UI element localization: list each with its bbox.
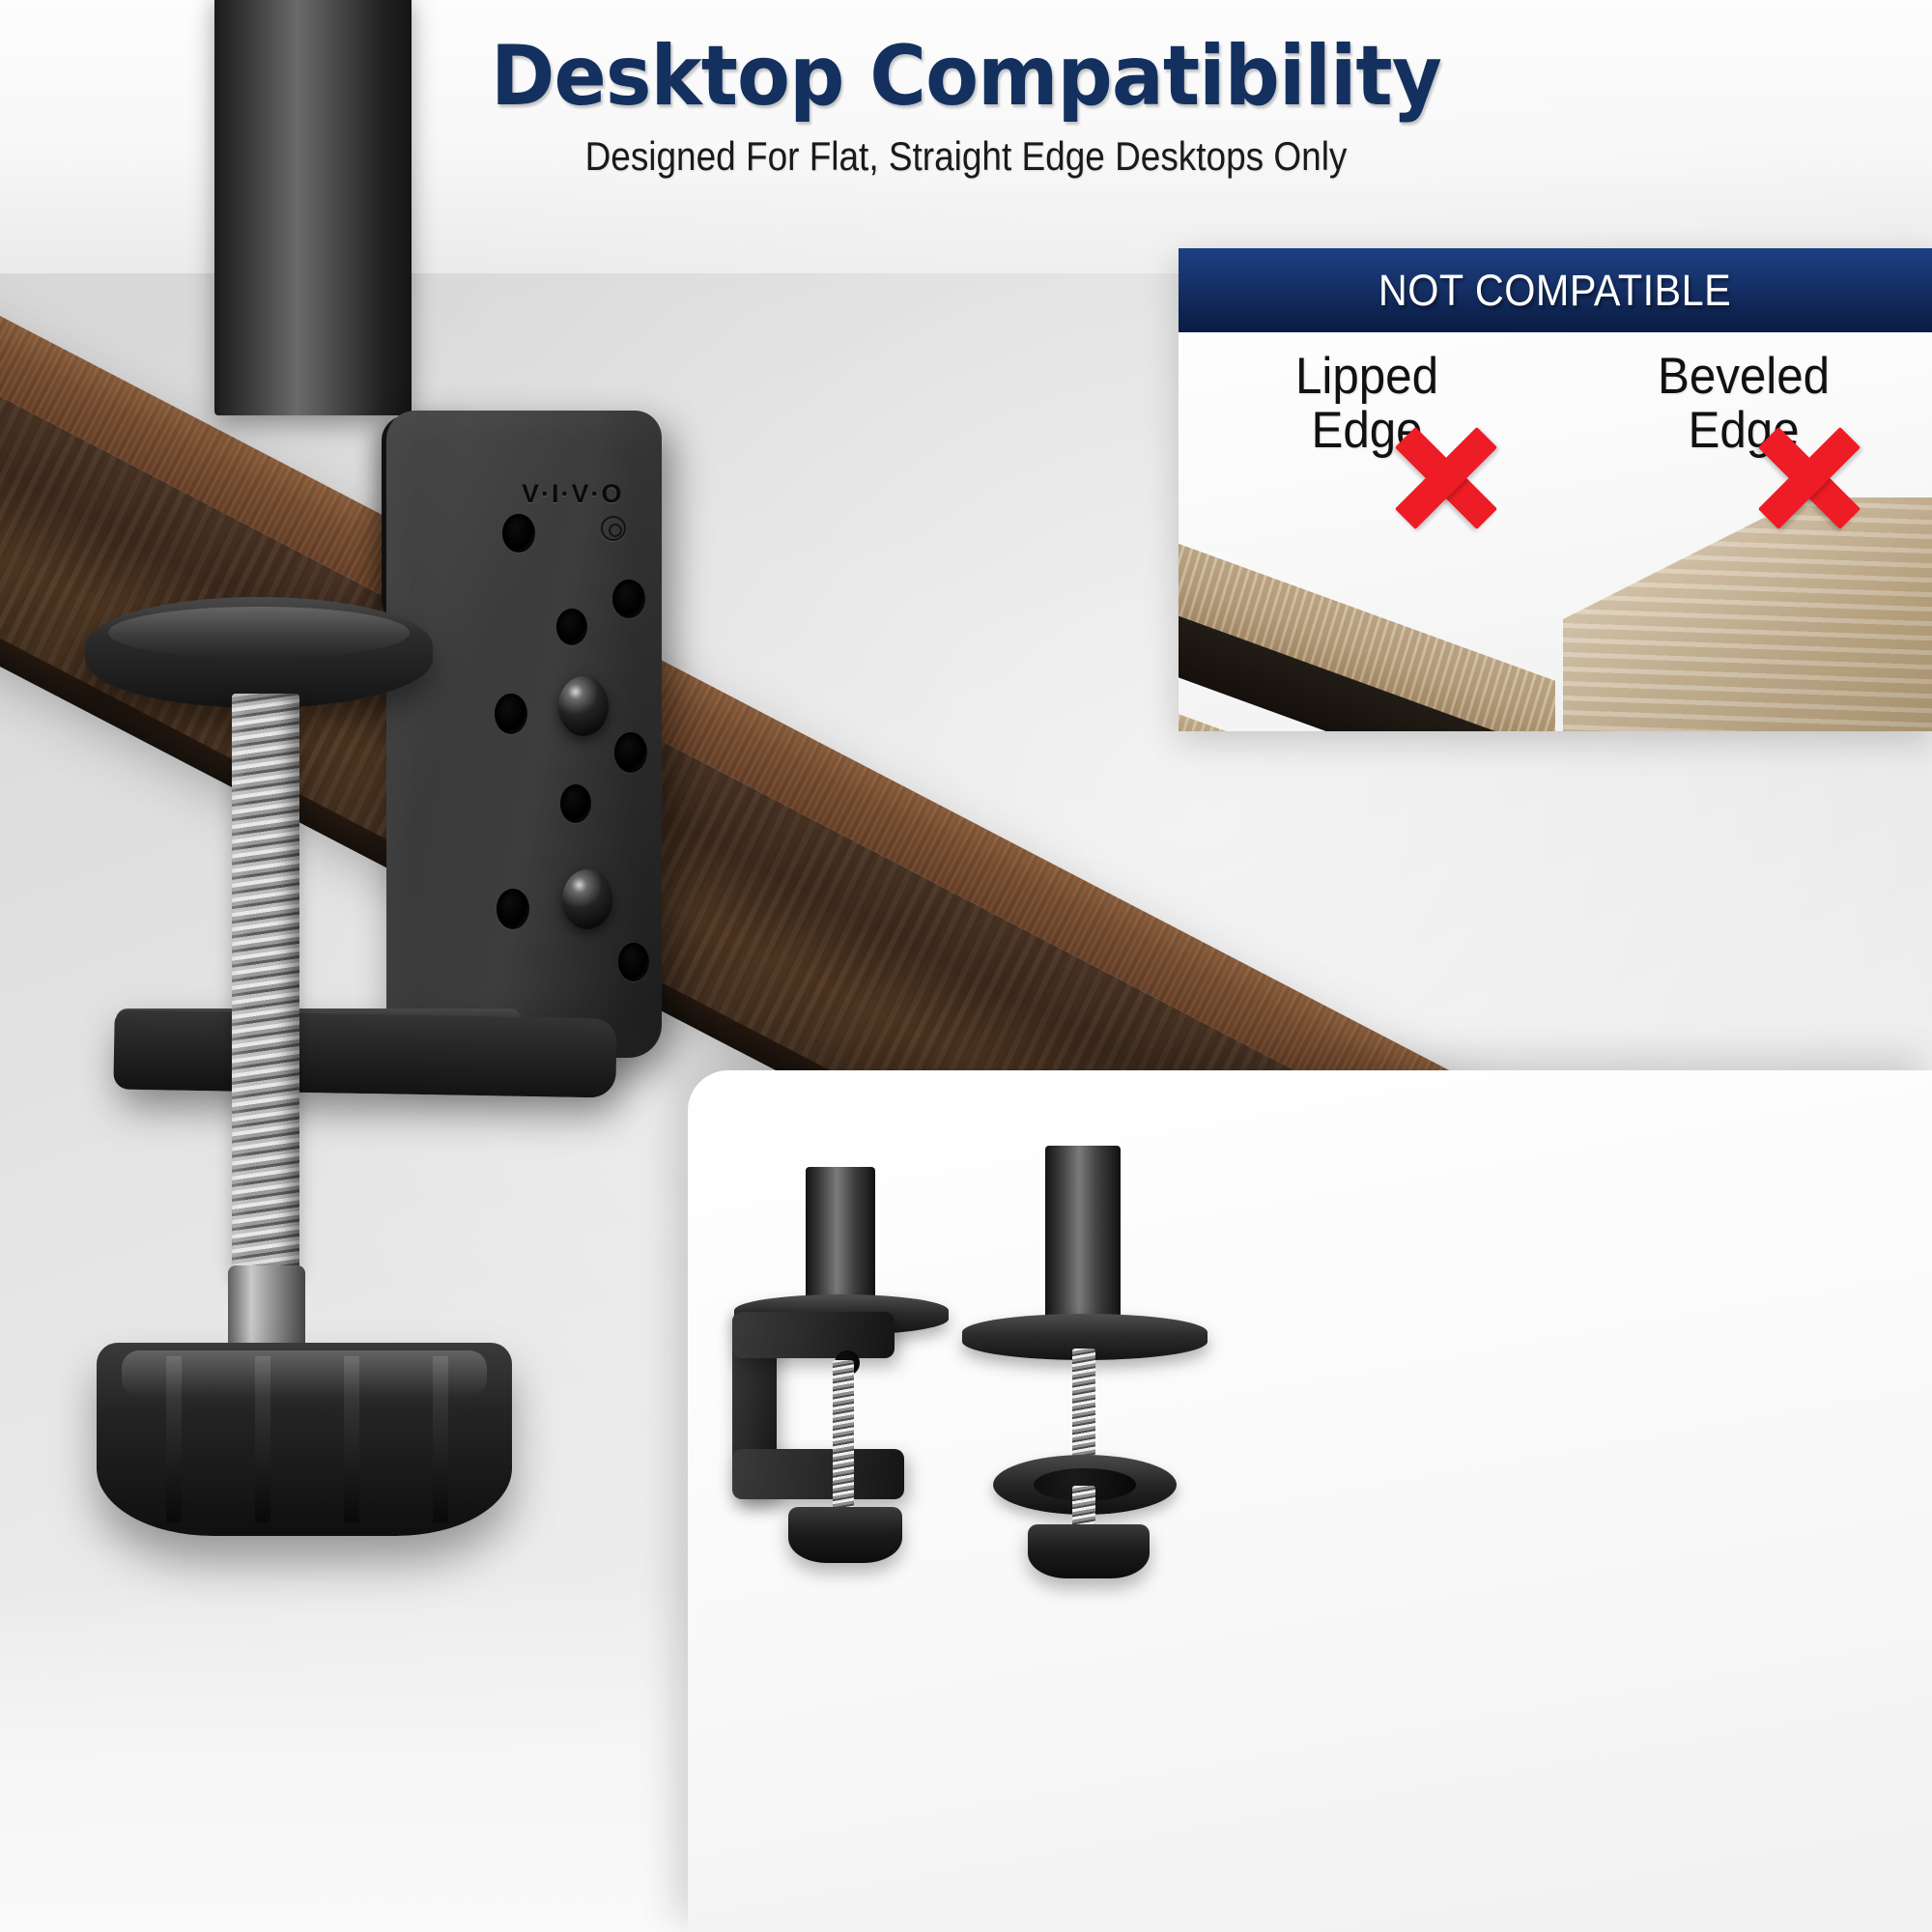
plate-hole xyxy=(560,784,591,823)
product-infographic: Desktop Compatibility Designed For Flat,… xyxy=(0,0,1932,1932)
plate-hole xyxy=(556,609,587,645)
vivo-brand-logo: V·I·V·O xyxy=(522,479,624,509)
not-compatible-panel: NOT COMPATIBLE Lipped Edge Beveled xyxy=(1179,248,1932,731)
clamp-screw-shaft xyxy=(232,694,299,1273)
clamp-pressure-pad xyxy=(85,597,433,708)
plate-hole xyxy=(618,943,649,981)
page-title: Desktop Compatibility xyxy=(68,33,1864,120)
page-subtitle: Designed For Flat, Straight Edge Desktop… xyxy=(116,133,1816,180)
plate-hole xyxy=(614,732,647,773)
lipped-edge-label-line1: Lipped xyxy=(1192,350,1543,404)
plate-hole xyxy=(497,889,529,929)
not-compatible-header: NOT COMPATIBLE xyxy=(1179,248,1932,332)
not-compatible-body: Lipped Edge Beveled Edge xyxy=(1179,332,1932,731)
plate-bump xyxy=(558,676,609,736)
mounting-options-panel xyxy=(688,1070,1932,1932)
clamp-lower-arm xyxy=(113,1009,616,1097)
beveled-edge-shading xyxy=(1563,497,1932,731)
not-compatible-item-beveled: Beveled Edge xyxy=(1555,332,1932,731)
plate-hole xyxy=(495,694,527,734)
red-x-icon xyxy=(1389,421,1503,535)
not-compatible-item-lipped: Lipped Edge xyxy=(1179,332,1555,731)
clamp-thumb-knob xyxy=(97,1343,512,1536)
red-x-icon xyxy=(1752,421,1866,535)
beveled-edge-illustration xyxy=(1555,470,1932,731)
beveled-edge-label-line1: Beveled xyxy=(1569,350,1919,404)
plate-hole xyxy=(502,514,535,553)
registered-trademark-icon xyxy=(601,516,626,541)
not-compatible-title: NOT COMPATIBLE xyxy=(1378,266,1731,316)
plate-bump xyxy=(562,869,612,929)
plate-hole xyxy=(612,580,645,618)
header-block: Desktop Compatibility Designed For Flat,… xyxy=(0,33,1932,180)
